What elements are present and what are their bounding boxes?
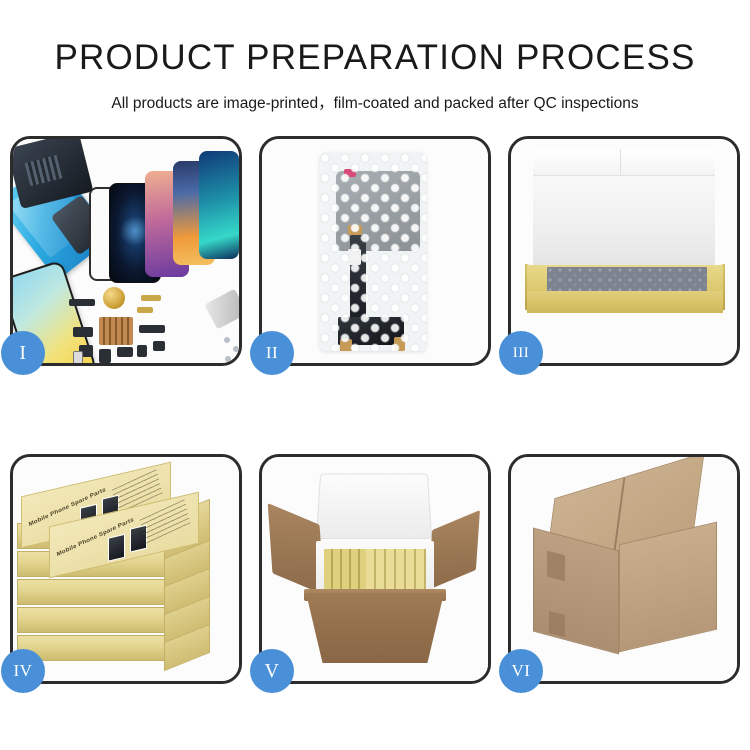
chip-array-icon: [99, 317, 133, 345]
small-part-icon-2: [99, 349, 111, 363]
step-panel-6[interactable]: VI: [508, 454, 740, 684]
step-panel-4[interactable]: Mobile Phone Spare Parts Mobile Phone Sp…: [10, 454, 242, 684]
ribbon-icon: [139, 325, 165, 333]
carton-right-face: [619, 522, 717, 653]
step-badge-6: VI: [499, 649, 543, 693]
flex-cable-icon-2: [137, 307, 153, 313]
step-badge-5: V: [250, 649, 294, 693]
gold-component-icon: [103, 287, 125, 309]
stacked-box-4: [17, 607, 167, 633]
process-step-grid: I II: [10, 136, 740, 684]
box-spec-lines-2: [140, 499, 191, 544]
small-part-icon-5: [153, 341, 165, 351]
carton-body-icon: [306, 593, 444, 663]
sim-tray-icon: [73, 351, 83, 363]
foam-lid-icon: [316, 474, 433, 539]
step-badge-3: III: [499, 331, 543, 375]
step-panel-3[interactable]: III: [508, 136, 740, 366]
step-badge-1: I: [1, 331, 45, 375]
packed-boxes-icon-2: [366, 549, 426, 593]
bubble-wrap-package: [320, 153, 426, 351]
kraft-box-front-icon: [527, 291, 723, 313]
carton-tape-lower: [549, 611, 565, 637]
page-title: PRODUCT PREPARATION PROCESS: [0, 0, 750, 75]
stacked-box-3: [17, 579, 167, 605]
small-part-icon-4: [137, 345, 147, 357]
step-badge-4: IV: [1, 649, 45, 693]
phone-parts-illustration: [13, 139, 239, 363]
white-box-lid-icon: [533, 149, 715, 271]
connector-icon: [73, 327, 93, 337]
carton-flap-right-icon: [428, 510, 480, 590]
step-panel-5[interactable]: V: [259, 454, 491, 684]
carton-left-face: [533, 527, 619, 654]
product-preparation-page: PRODUCT PREPARATION PROCESS All products…: [0, 0, 750, 750]
step-panel-2[interactable]: II: [259, 136, 491, 366]
box-screen-thumb-3: [108, 534, 125, 562]
teal-phone-icon: [199, 151, 239, 259]
carton-tape-upper: [547, 551, 565, 582]
small-part-icon-3: [117, 347, 133, 357]
sealed-carton-icon: [527, 477, 723, 657]
screws-icon: [223, 335, 239, 363]
step-image-6: [511, 457, 737, 681]
step-badge-2: II: [250, 331, 294, 375]
step-image-4: Mobile Phone Spare Parts Mobile Phone Sp…: [13, 457, 239, 681]
page-subtitle: All products are image-printed，film-coat…: [0, 75, 750, 113]
tool-icon: [204, 289, 239, 330]
step-image-2: [262, 139, 488, 363]
box-stack: Mobile Phone Spare Parts Mobile Phone Sp…: [17, 475, 239, 669]
step-image-1: [13, 139, 239, 363]
page-header: PRODUCT PREPARATION PROCESS All products…: [0, 0, 750, 113]
step-panel-1[interactable]: I: [10, 136, 242, 366]
step-image-3: [511, 139, 737, 363]
step-image-5: [262, 457, 488, 681]
bubble-texture-overlay: [320, 153, 426, 351]
flex-cable-icon: [141, 295, 161, 301]
part-strip-icon: [69, 299, 95, 306]
